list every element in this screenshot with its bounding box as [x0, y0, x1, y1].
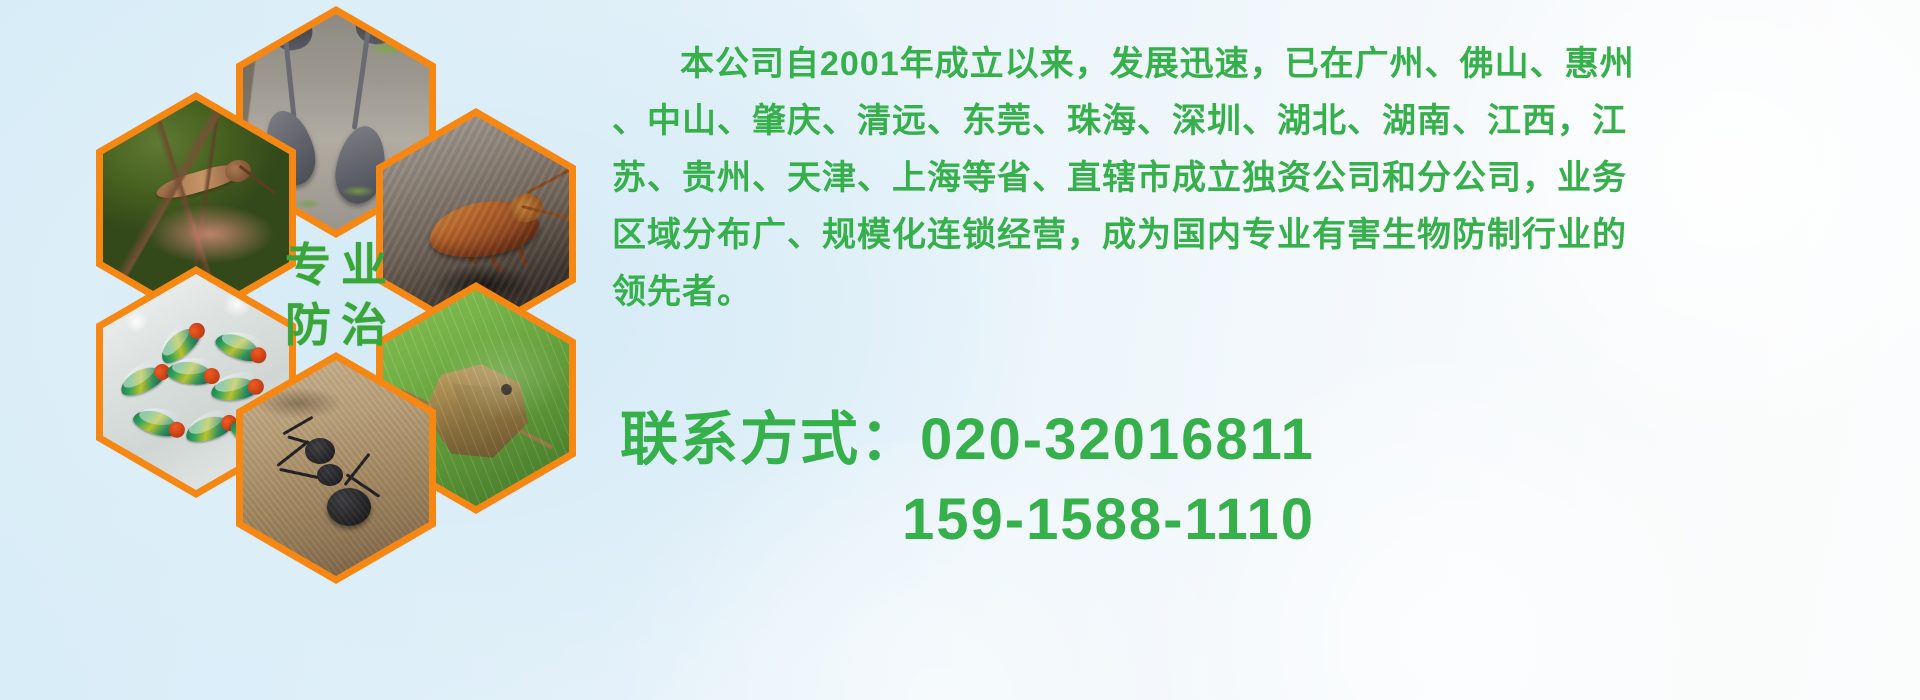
intro-line-5: 领先者。: [612, 264, 1892, 321]
slogan-line-1: 专业: [275, 242, 397, 288]
slogan-text: 专业 防治: [243, 187, 429, 403]
contact-phone-mobile[interactable]: 159-1588-1110: [620, 480, 1900, 560]
company-intro-paragraph: 本公司自2001年成立以来，发展迅速，已在广州、佛山、惠州 、中山、肇庆、清远、…: [612, 36, 1892, 321]
slogan-line-2: 防治: [275, 302, 397, 348]
contact-phone-landline[interactable]: 联系方式：020-32016811: [620, 400, 1900, 480]
contact-block: 联系方式：020-32016811 159-1588-1110: [620, 400, 1900, 560]
intro-line-3: 苏、贵州、天津、上海等省、直辖市成立独资公司和分公司，业务: [612, 150, 1892, 207]
intro-line-2: 、中山、肇庆、清远、东莞、珠海、深圳、湖北、湖南、江西，江: [612, 93, 1892, 150]
intro-line-1: 本公司自2001年成立以来，发展迅速，已在广州、佛山、惠州: [612, 36, 1892, 93]
intro-line-4: 区域分布广、规模化连锁经营，成为国内专业有害生物防制行业的: [612, 207, 1892, 264]
promo-banner: 专业 防治 本公司自2001年成立以来，发展迅速，已在广州、佛山、惠州 、中山、…: [0, 0, 1920, 700]
honeycomb-image-cluster: 专业 防治: [78, 0, 598, 552]
